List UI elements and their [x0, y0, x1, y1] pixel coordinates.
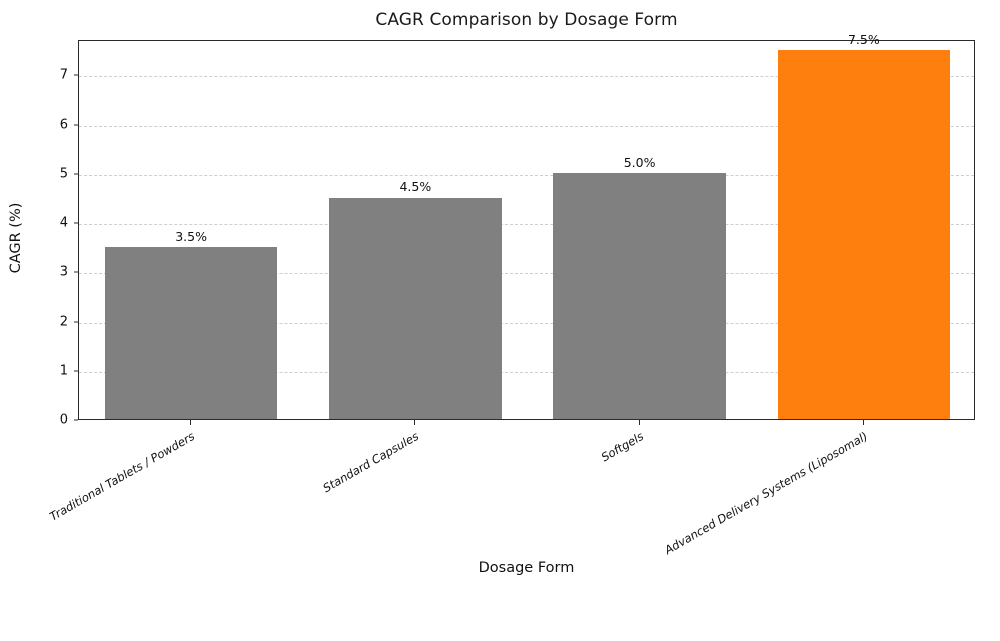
y-axis: CAGR (%) 01234567	[0, 40, 78, 420]
x-axis: Traditional Tablets / PowdersStandard Ca…	[78, 420, 975, 580]
chart-title: CAGR Comparison by Dosage Form	[78, 10, 975, 30]
y-tick-label: 5	[60, 166, 68, 181]
bar-value-label: 5.0%	[528, 155, 752, 170]
chart-figure: CAGR Comparison by Dosage Form CAGR (%) …	[0, 0, 1000, 600]
x-tick-label: Standard Capsules	[68, 429, 421, 641]
x-tick-mark	[414, 420, 415, 425]
bar[interactable]	[553, 173, 726, 419]
x-tick-mark	[863, 420, 864, 425]
x-tick-label: Softgels	[292, 429, 645, 641]
y-tick-label: 0	[60, 413, 68, 428]
x-tick-label: Advanced Delivery Systems (Liposomal)	[516, 429, 869, 641]
y-tick-label: 7	[60, 68, 68, 83]
x-tick-label: Traditional Tablets / Powders	[0, 429, 197, 641]
y-tick-label: 1	[60, 363, 68, 378]
y-tick-label: 6	[60, 117, 68, 132]
bar[interactable]	[105, 247, 278, 419]
bar-value-label: 4.5%	[303, 179, 527, 194]
x-tick-mark	[190, 420, 191, 425]
y-tick-label: 4	[60, 216, 68, 231]
y-tick-label: 3	[60, 265, 68, 280]
bar-value-label: 7.5%	[752, 32, 976, 47]
bar-series: 3.5%4.5%5.0%7.5%	[79, 41, 974, 419]
bar-value-label: 3.5%	[79, 229, 303, 244]
plot-area: 3.5%4.5%5.0%7.5%	[78, 40, 975, 420]
y-tick-label: 2	[60, 314, 68, 329]
bar[interactable]	[329, 198, 502, 420]
y-axis-title: CAGR (%)	[8, 158, 24, 318]
bar[interactable]	[778, 50, 951, 419]
x-tick-mark	[639, 420, 640, 425]
x-axis-title: Dosage Form	[78, 560, 975, 576]
